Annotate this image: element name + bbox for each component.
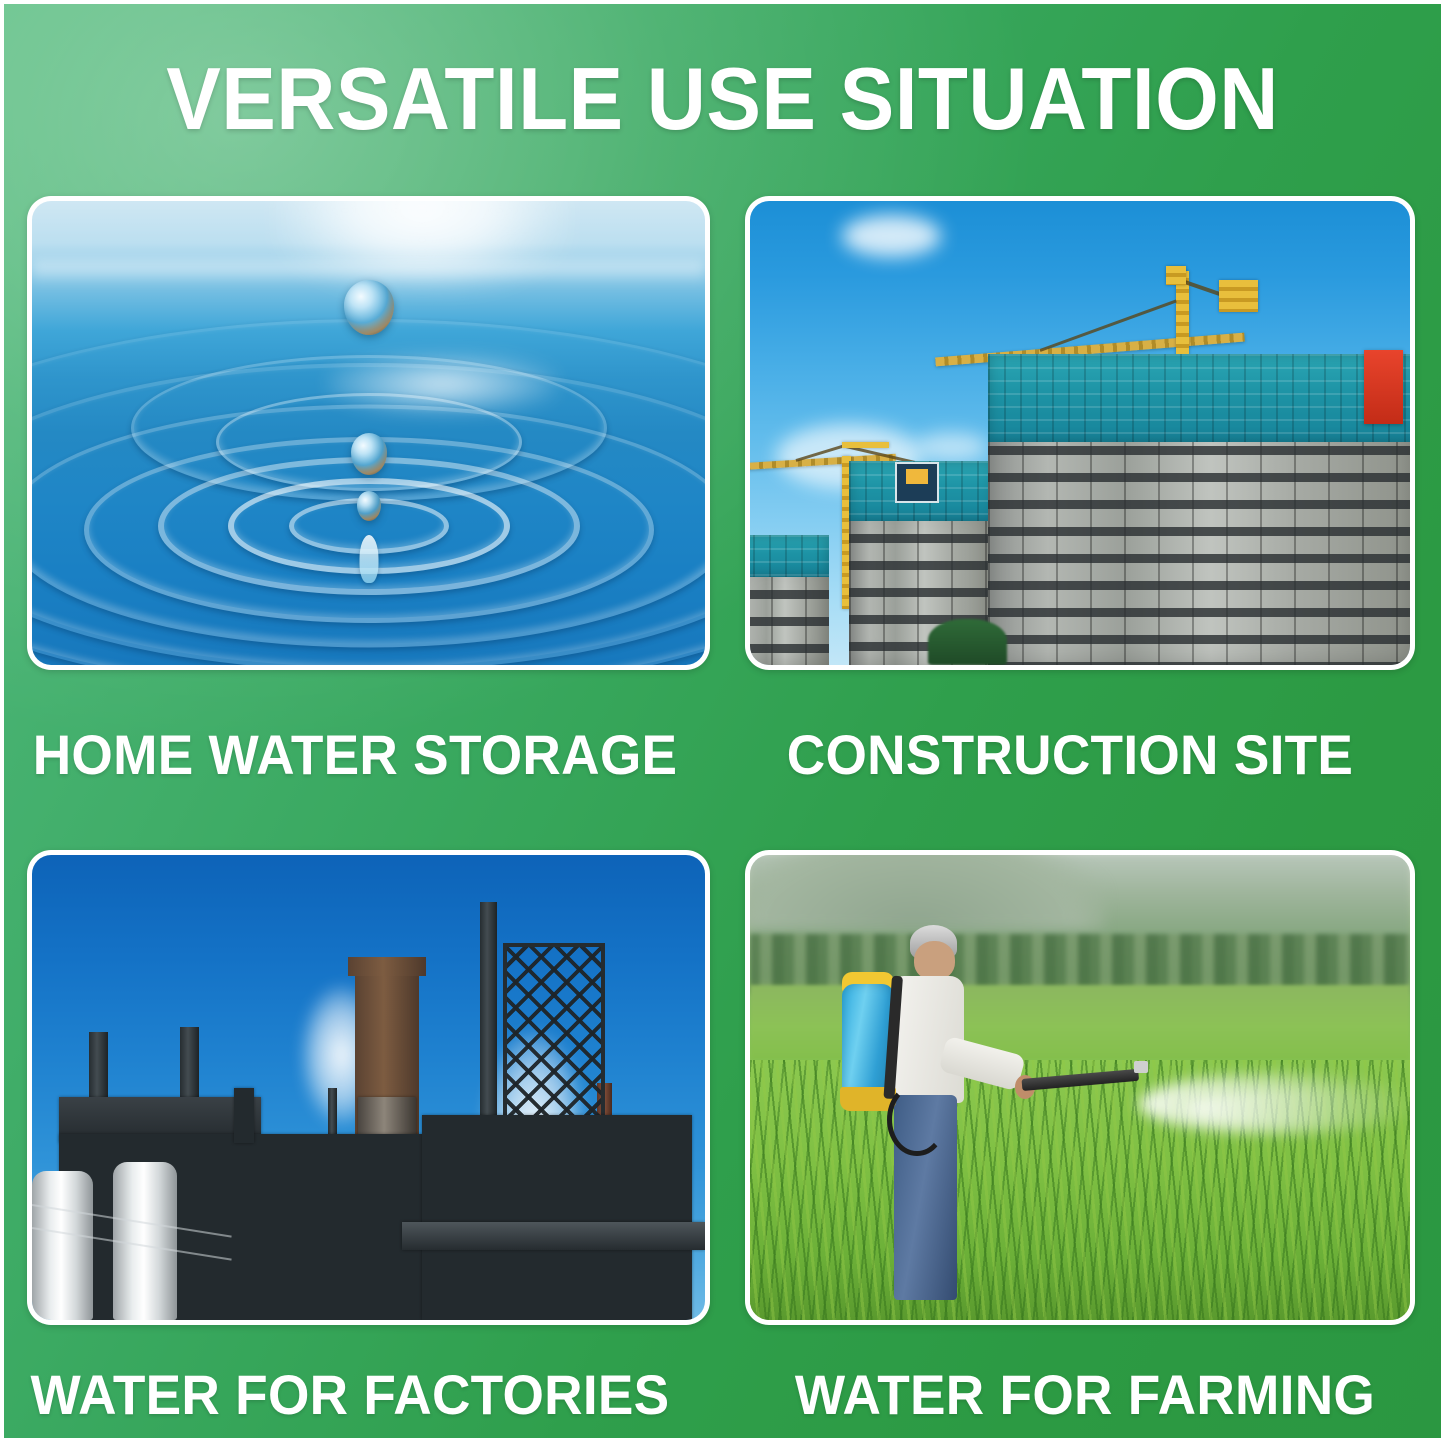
plant-structure (422, 1115, 691, 1320)
safety-netting (750, 535, 829, 577)
caption-water-for-farming: WATER FOR FARMING (772, 1362, 1399, 1427)
pipe-bridge (402, 1222, 705, 1250)
water-column (359, 535, 378, 583)
sign-emblem (906, 469, 928, 483)
background-tower (750, 563, 829, 665)
farmer-head (914, 941, 954, 981)
cloud (842, 215, 941, 257)
caption-home-water-storage: HOME WATER STORAGE (18, 722, 693, 787)
tower-windows (750, 563, 829, 665)
water-droplet-image (32, 201, 705, 665)
storage-tank (32, 1171, 93, 1320)
construction-site-image (750, 201, 1410, 665)
sprayer-hose (887, 1083, 946, 1156)
crane-cab (1166, 266, 1186, 285)
industrial-refinery-image (32, 855, 705, 1320)
panel-water-for-farming (745, 850, 1415, 1325)
cloud (915, 433, 988, 461)
crane-counter-jib (842, 442, 888, 448)
pipe-rack (234, 1088, 254, 1144)
tree-cluster (928, 619, 1007, 665)
panel-construction-site (745, 196, 1415, 670)
panel-water-for-factories (27, 850, 710, 1325)
caption-construction-site: CONSTRUCTION SITE (757, 722, 1384, 787)
caption-water-for-factories: WATER FOR FACTORIES (18, 1362, 683, 1427)
water-spray-mist (1186, 1088, 1410, 1130)
panel-home-water-storage (27, 196, 710, 670)
main-tower (988, 419, 1410, 665)
page-title: VERSATILE USE SITUATION (51, 44, 1395, 154)
safety-netting (988, 354, 1410, 442)
tower-windows (988, 419, 1410, 665)
sprayer-nozzle (1134, 1061, 1147, 1073)
versatile-use-situation-poster: VERSATILE USE SITUATION (0, 0, 1445, 1442)
building-sign (895, 462, 939, 503)
red-banner (1364, 350, 1404, 424)
column-top (348, 957, 425, 976)
crane-counter-weight (1219, 280, 1259, 312)
farmer-figure (842, 925, 1066, 1320)
hill-peak (750, 855, 1106, 929)
farmer-spraying-field-image (750, 855, 1410, 1320)
